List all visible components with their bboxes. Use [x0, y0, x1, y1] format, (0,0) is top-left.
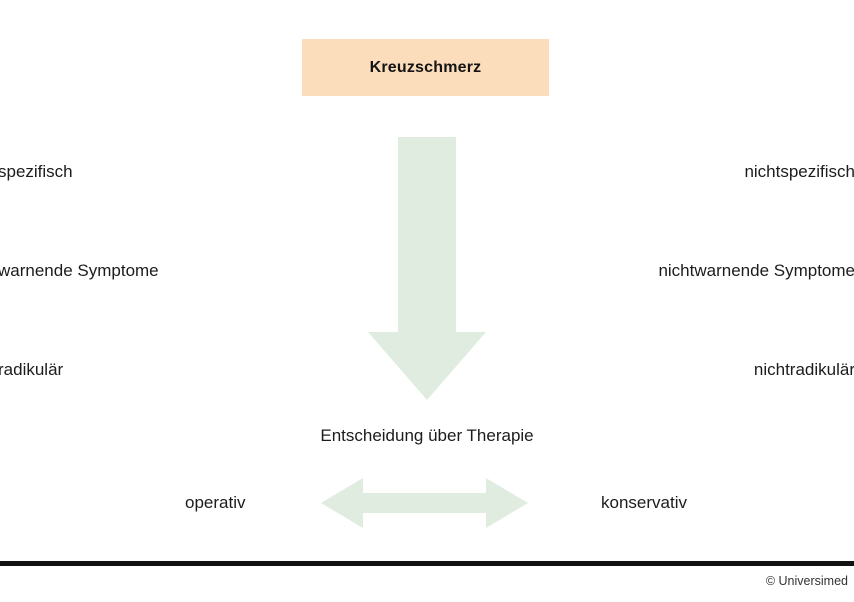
branch-label-right-nonwarning-symptoms: nichtwarnende Symptome [658, 262, 854, 279]
flow-diagram: Kreuzschmerz spezifisch nichtspezifisch … [0, 0, 854, 602]
branch-label-left-specific: spezifisch [0, 163, 73, 180]
footer-divider [0, 561, 854, 566]
branch-label-left-warning-symptoms: warnende Symptome [0, 262, 159, 279]
diagram-title-box: Kreuzschmerz [302, 39, 549, 96]
footer-credit: © Universimed [766, 574, 848, 588]
decision-option-conservative: konservativ [601, 493, 687, 513]
decision-option-operative: operativ [185, 493, 245, 513]
branch-label-right-nonspecific: nichtspezifisch [744, 163, 854, 180]
decision-label: Entscheidung über Therapie [0, 426, 854, 446]
branch-label-left-radicular: radikulär [0, 361, 63, 378]
branch-label-right-nonradicular: nichtradikulär [754, 361, 854, 378]
arrow-left-right-icon [321, 478, 528, 528]
arrow-down-icon [368, 137, 486, 400]
diagram-title-label: Kreuzschmerz [370, 59, 482, 77]
